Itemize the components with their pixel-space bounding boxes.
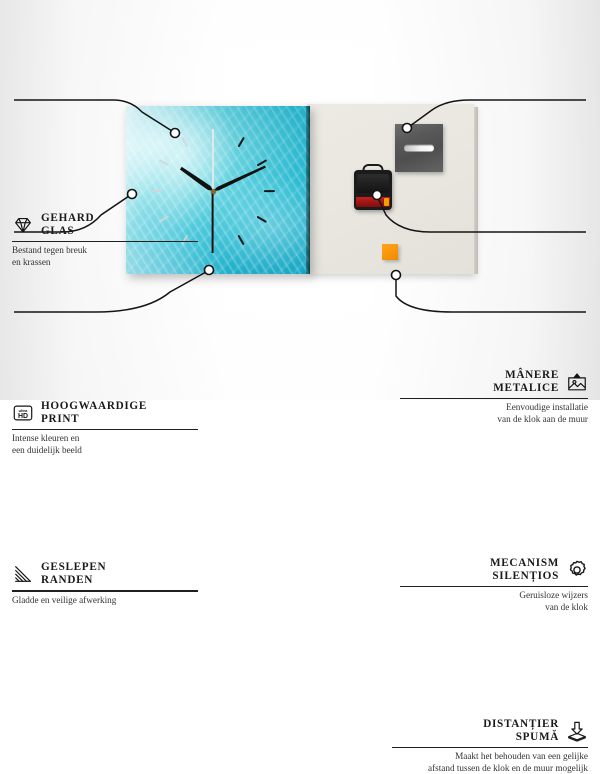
callout-head: MÂNERE METALICE <box>400 369 588 395</box>
connector-spacer <box>396 278 586 312</box>
callout-desc: Eenvoudige installatie van de klok aan d… <box>400 402 588 425</box>
callout-head: MECANISM SILENȚIOS <box>400 557 588 583</box>
svg-text:HD: HD <box>18 413 28 420</box>
callout-head: ultra HD HOOGWAARDIGE PRINT <box>12 400 198 426</box>
quartz-mechanism-part <box>354 170 392 210</box>
clock-hour-hand <box>179 166 215 193</box>
clock-second-hand-tail <box>212 129 214 191</box>
spacer-arrow-icon <box>566 720 588 742</box>
callout-mecanism-silentios[interactable]: MECANISM SILENȚIOS Geruisloze wijzers va… <box>400 557 588 613</box>
callout-title: GEHARD GLAS <box>41 212 94 238</box>
metal-hanger-part <box>395 124 443 172</box>
callout-rule <box>392 747 588 748</box>
clock-back-panel <box>307 104 474 274</box>
callout-head: GEHARD GLAS <box>12 212 198 238</box>
callout-title: MECANISM SILENȚIOS <box>490 557 559 583</box>
callout-title: GESLEPEN RANDEN <box>41 561 106 587</box>
callout-title: DISTANȚIER SPUMĂ <box>483 718 559 744</box>
callout-title: MÂNERE METALICE <box>493 369 559 395</box>
callout-desc: Geruisloze wijzers van de klok <box>400 590 588 613</box>
callout-head: DISTANȚIER SPUMĂ <box>392 718 588 744</box>
callout-manere-metalice[interactable]: MÂNERE METALICE Eenvoudige installatie v… <box>400 369 588 425</box>
foam-spacer-part <box>382 244 398 260</box>
mechanism-body <box>357 174 389 193</box>
connector-edges <box>14 272 206 312</box>
callout-distantier-spuma[interactable]: DISTANȚIER SPUMĂ Maakt het behouden van … <box>392 718 588 774</box>
callout-rule <box>12 429 198 430</box>
callout-hoogwaardige-print[interactable]: ultra HD HOOGWAARDIGE PRINT Intense kleu… <box>12 400 198 456</box>
callout-rule <box>400 398 588 399</box>
callout-geslepen-randen[interactable]: GESLEPEN RANDEN Gladde en veilige afwerk… <box>12 561 198 606</box>
battery <box>356 197 390 207</box>
callout-desc: Bestand tegen breuk en krassen <box>12 245 198 268</box>
clock-tick <box>213 190 275 192</box>
callout-gehard-glas[interactable]: GEHARD GLAS Bestand tegen breuk en krass… <box>12 212 198 268</box>
clock-tick <box>151 190 213 192</box>
clock-center-cap <box>211 189 216 194</box>
hanger-slot <box>404 145 434 152</box>
diamond-icon <box>12 214 34 236</box>
callout-rule <box>12 241 198 242</box>
infographic-canvas: GEHARD GLAS Bestand tegen breuk en krass… <box>0 0 600 400</box>
gear-icon <box>566 559 588 581</box>
callout-rule <box>12 590 198 591</box>
callout-head: GESLEPEN RANDEN <box>12 561 198 587</box>
clock-second-hand <box>212 191 214 253</box>
ultra-hd-icon: ultra HD <box>12 402 34 424</box>
callout-desc: Intense kleuren en een duidelijk beeld <box>12 433 198 456</box>
callout-rule <box>400 586 588 587</box>
callout-desc: Maakt het behouden van een gelijke afsta… <box>392 751 588 774</box>
ground-edges-icon <box>12 563 34 585</box>
callout-desc: Gladde en veilige afwerking <box>12 595 198 606</box>
picture-hanger-icon <box>566 371 588 393</box>
callout-title: HOOGWAARDIGE PRINT <box>41 400 147 426</box>
